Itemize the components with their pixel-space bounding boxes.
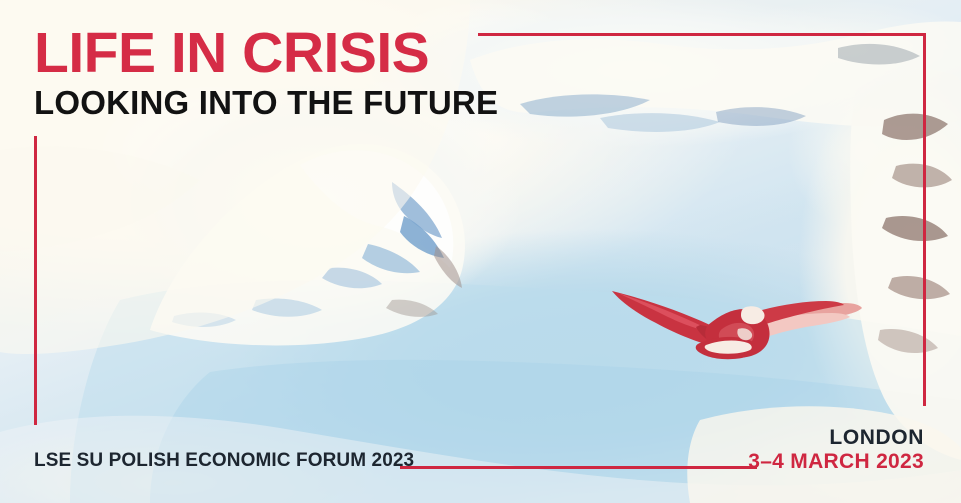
- frame-rule-top: [478, 33, 926, 36]
- seagull-icon: [604, 281, 866, 365]
- location-block: LONDON 3–4 MARCH 2023: [748, 427, 924, 473]
- event-city-label: LONDON: [748, 427, 924, 449]
- frame-rule-left: [34, 136, 37, 425]
- page-title: LIFE IN CRISIS: [34, 24, 498, 82]
- headline-block: LIFE IN CRISIS LOOKING INTO THE FUTURE: [34, 24, 498, 119]
- event-name-label: LSE SU POLISH ECONOMIC FORUM 2023: [34, 450, 414, 472]
- frame-rule-right: [923, 33, 926, 406]
- page-subtitle: LOOKING INTO THE FUTURE: [34, 86, 498, 119]
- poster-canvas: LIFE IN CRISIS LOOKING INTO THE FUTURE L…: [0, 0, 961, 503]
- frame-rule-bottom: [400, 466, 757, 469]
- event-dates-label: 3–4 MARCH 2023: [748, 451, 924, 473]
